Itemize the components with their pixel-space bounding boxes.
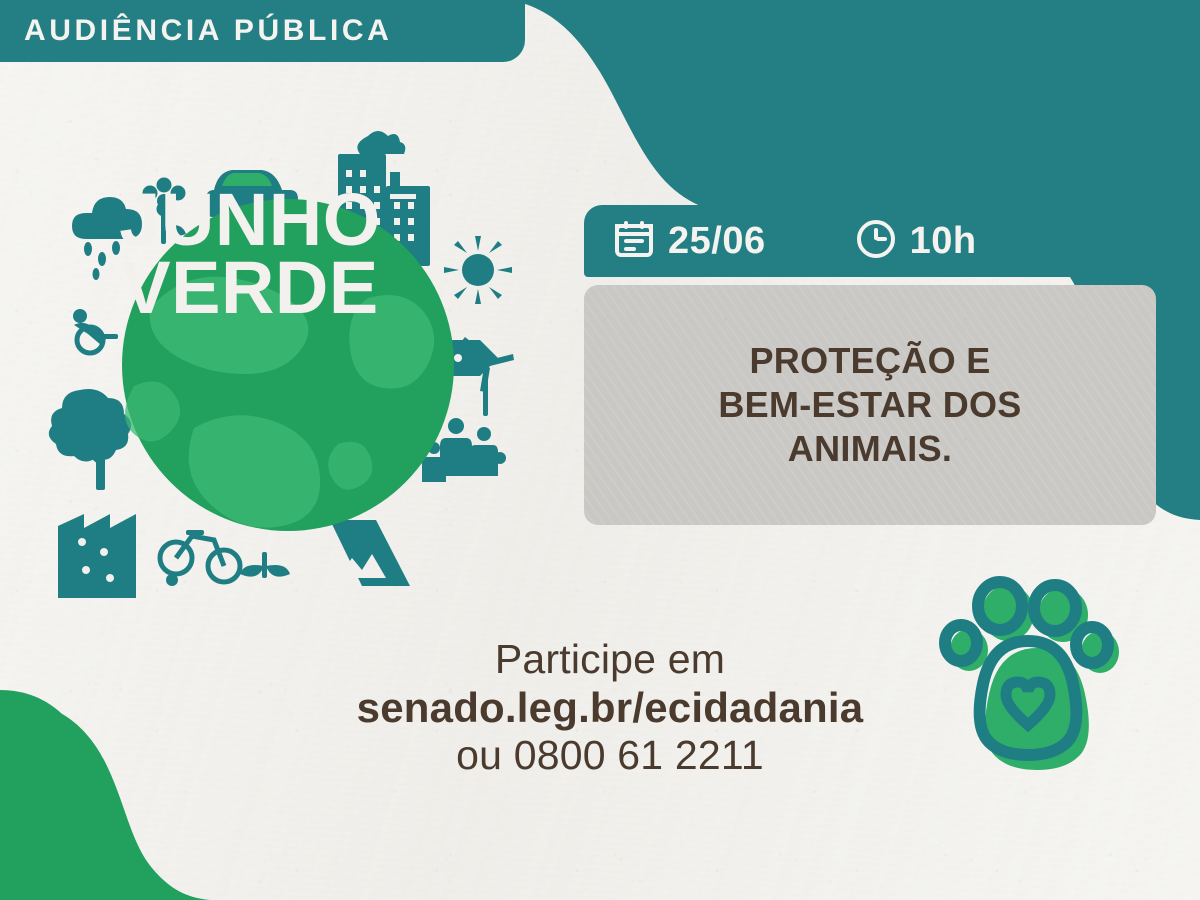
event-date-item: 25/06 [612,217,766,266]
event-time-item: 10h [854,217,977,266]
globe-illustration [38,128,538,598]
event-info-card: 25/06 10h PROTEÇÃO E BEM-ESTAR DOS ANIMA… [584,205,1156,525]
sprout-icon [240,552,290,578]
clock-icon [854,217,898,266]
bottom-left-green-wave-fill [0,690,192,900]
globe-sphere [122,199,454,531]
tree-icon [49,389,131,490]
bicycle-icon [160,530,240,586]
cta-line-phone: ou 0800 61 2211 [300,732,920,780]
call-to-action: Participe em senado.leg.br/ecidadania ou… [300,636,920,780]
bottom-left-green-wave [0,700,210,900]
flower-icon [143,178,187,245]
calendar-icon [612,217,656,266]
factory-icon [58,514,136,598]
subject-line-2: BEM-ESTAR DOS [718,384,1021,425]
cta-line-participate: Participe em [300,636,920,684]
event-time-value: 10h [910,222,977,260]
poster-canvas: AUDIÊNCIA PÚBLICA [0,0,1200,900]
sun-icon [444,236,512,304]
wheelchair-icon [73,309,118,353]
header-banner: AUDIÊNCIA PÚBLICA [0,0,525,62]
header-title: AUDIÊNCIA PÚBLICA [0,16,392,46]
event-meta-bar: 25/06 10h [584,205,1156,277]
cta-line-website[interactable]: senado.leg.br/ecidadania [300,684,920,733]
mountain-icon [330,520,410,586]
paw-print-heart-icon [915,565,1135,780]
rain-cloud-icon [72,197,142,280]
event-subject-text: PROTEÇÃO E BEM-ESTAR DOS ANIMAIS. [678,339,1061,471]
event-subject-box: PROTEÇÃO E BEM-ESTAR DOS ANIMAIS. [584,285,1156,525]
subject-line-3: ANIMAIS. [788,428,952,469]
event-date-value: 25/06 [668,222,766,260]
subject-line-1: PROTEÇÃO E [749,340,990,381]
